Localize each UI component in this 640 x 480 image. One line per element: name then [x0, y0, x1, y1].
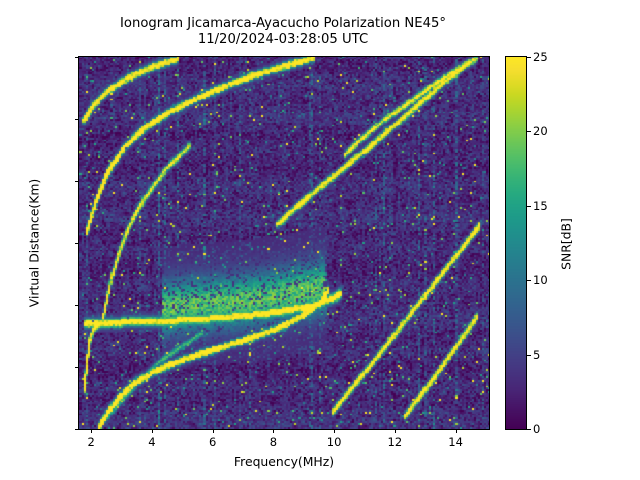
title-line-2: 11/20/2024-03:28:05 UTC — [78, 32, 488, 48]
x-tick-label: 14 — [448, 435, 463, 449]
title-line-1: Ionogram Jicamarca-Ayacucho Polarization… — [78, 16, 488, 32]
colorbar-tick-mark — [527, 206, 531, 207]
x-tick-label: 2 — [87, 435, 94, 449]
figure-title: Ionogram Jicamarca-Ayacucho Polarization… — [78, 16, 488, 47]
colorbar-tick-label: 10 — [533, 273, 548, 287]
x-tick-mark — [152, 429, 153, 433]
x-tick-label: 6 — [209, 435, 216, 449]
plot-axes: Virtual Distance(Km) Frequency(MHz) 0500… — [78, 56, 490, 430]
y-tick-mark — [75, 305, 79, 306]
colorbar-tick-label: 20 — [533, 124, 548, 138]
x-tick-label: 10 — [327, 435, 342, 449]
colorbar-gradient — [506, 57, 526, 429]
x-tick-mark — [395, 429, 396, 433]
ionogram-figure: Ionogram Jicamarca-Ayacucho Polarization… — [0, 0, 640, 480]
colorbar-tick-mark — [527, 131, 531, 132]
x-tick-mark — [456, 429, 457, 433]
colorbar-tick-label: 25 — [533, 50, 548, 64]
y-tick-mark — [75, 243, 79, 244]
x-tick-mark — [91, 429, 92, 433]
y-tick-mark — [75, 181, 79, 182]
x-tick-label: 8 — [270, 435, 277, 449]
colorbar-tick-label: 0 — [533, 422, 540, 436]
colorbar: 0510152025 — [505, 56, 527, 430]
y-tick-mark — [75, 57, 79, 58]
colorbar-label: SNR[dB] — [559, 218, 574, 270]
x-tick-mark — [334, 429, 335, 433]
y-tick-mark — [75, 367, 79, 368]
x-tick-mark — [213, 429, 214, 433]
colorbar-tick-mark — [527, 57, 531, 58]
colorbar-tick-mark — [527, 280, 531, 281]
y-tick-mark — [75, 119, 79, 120]
x-tick-label: 4 — [148, 435, 155, 449]
colorbar-tick-mark — [527, 355, 531, 356]
x-tick-label: 12 — [388, 435, 403, 449]
colorbar-tick-label: 5 — [533, 348, 540, 362]
y-axis-label: Virtual Distance(Km) — [27, 179, 42, 307]
colorbar-tick-mark — [527, 429, 531, 430]
x-axis-label: Frequency(MHz) — [234, 454, 334, 469]
x-tick-mark — [273, 429, 274, 433]
colorbar-tick-label: 15 — [533, 199, 548, 213]
y-tick-mark — [75, 429, 79, 430]
ionogram-heatmap — [79, 57, 489, 429]
